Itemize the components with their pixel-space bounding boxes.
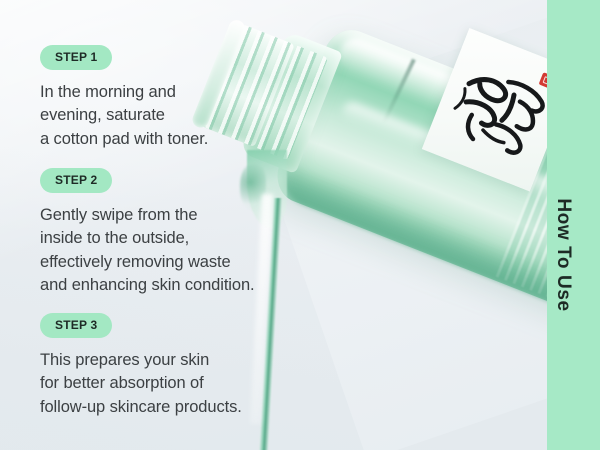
step-text-1: In the morning and evening, saturate a c… <box>40 81 208 151</box>
steps-list: STEP 1 In the morning and evening, satur… <box>0 0 290 450</box>
step-text-2: Gently swipe from the inside to the outs… <box>40 204 255 298</box>
side-band: How To Use <box>547 0 600 450</box>
how-to-use-banner: STEP 1 In the morning and evening, satur… <box>0 0 600 450</box>
step-item-1: STEP 1 In the morning and evening, satur… <box>40 45 208 151</box>
step-badge-3: STEP 3 <box>40 313 112 338</box>
calligraphy-mark <box>438 54 559 169</box>
step-item-3: STEP 3 This prepares your skin for bette… <box>40 313 242 419</box>
step-badge-1: STEP 1 <box>40 45 112 70</box>
side-band-title: How To Use <box>552 198 574 311</box>
step-text-3: This prepares your skin for better absor… <box>40 349 242 419</box>
step-badge-2: STEP 2 <box>40 168 112 193</box>
step-item-2: STEP 2 Gently swipe from the inside to t… <box>40 168 255 298</box>
